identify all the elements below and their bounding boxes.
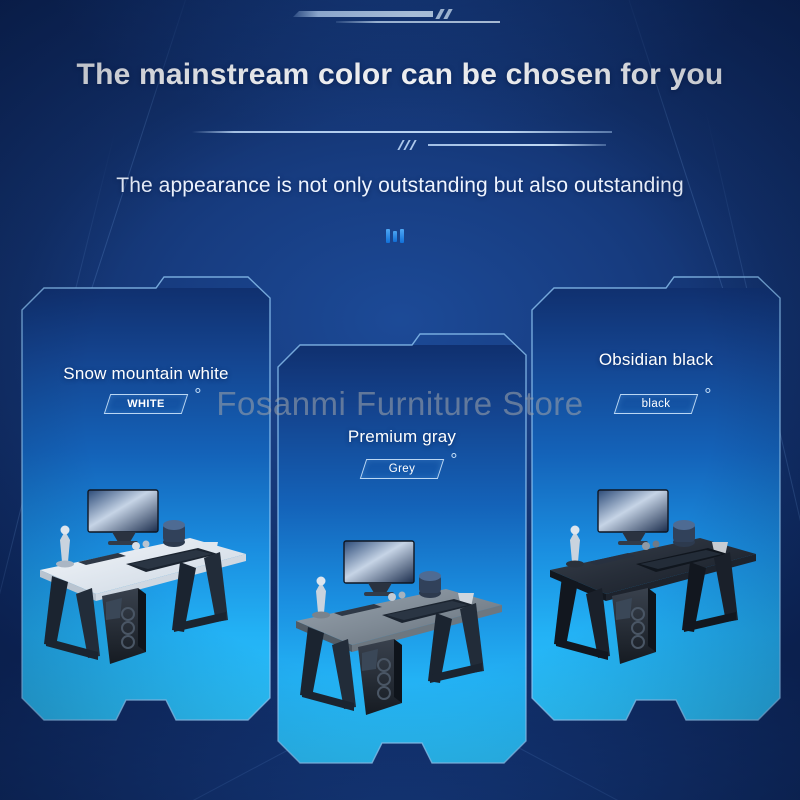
card-badge-text: WHITE [122, 398, 170, 410]
card-badge-text: Grey [378, 463, 426, 475]
small-circle-decor-icon [705, 388, 710, 393]
triple-slash-decor-icon [400, 140, 422, 150]
accent-line-decor-icon [192, 131, 612, 133]
small-circle-decor-icon [451, 453, 456, 458]
product-image-white-desk [30, 484, 262, 700]
color-option-card-grey[interactable]: Premium gray Grey [278, 345, 526, 763]
product-image-grey-desk [286, 535, 518, 751]
card-label: Snow mountain white [22, 364, 270, 384]
promo-banner: The mainstream color can be chosen for y… [0, 0, 800, 800]
page-subtitle: The appearance is not only outstanding b… [0, 174, 800, 198]
card-badge: black [532, 394, 780, 414]
accent-line-decor-icon [428, 144, 606, 146]
card-badge-text: black [632, 398, 680, 410]
card-label: Obsidian black [532, 350, 780, 370]
color-option-card-black[interactable]: Obsidian black black [532, 288, 780, 720]
small-circle-decor-icon [195, 388, 200, 393]
accent-line-decor-icon [336, 21, 500, 23]
card-badge: WHITE [22, 394, 270, 414]
card-badge: Grey [278, 459, 526, 479]
product-image-black-desk [540, 484, 772, 700]
card-label: Premium gray [278, 427, 526, 447]
page-title: The mainstream color can be chosen for y… [0, 58, 800, 92]
angled-bar-decor-icon [293, 11, 433, 17]
double-slash-decor-icon [438, 9, 454, 19]
triple-bar-decor-icon [386, 229, 412, 243]
color-option-card-white[interactable]: Snow mountain white WHITE [22, 288, 270, 720]
